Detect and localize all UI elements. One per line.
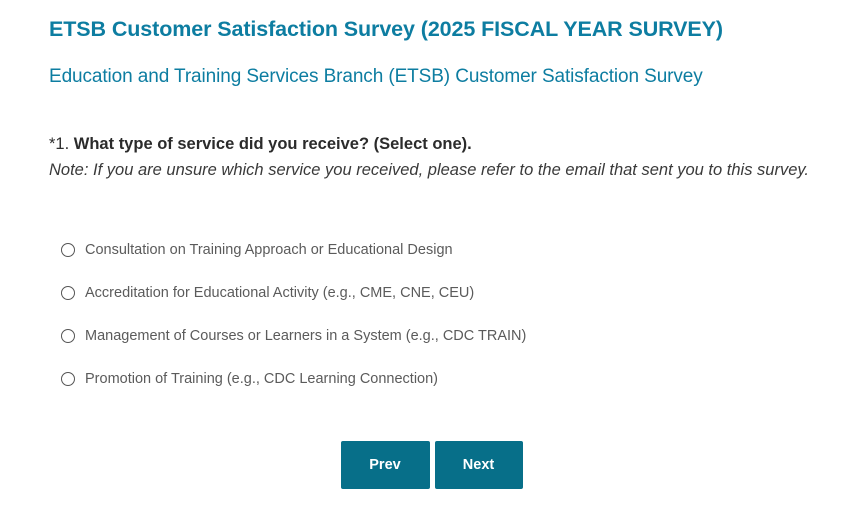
radio-unchecked-icon[interactable] — [61, 329, 75, 343]
prev-button[interactable]: Prev — [341, 441, 430, 489]
next-button[interactable]: Next — [435, 441, 523, 489]
survey-subtitle: Education and Training Services Branch (… — [49, 66, 703, 88]
radio-option-2[interactable]: Accreditation for Educational Activity (… — [61, 279, 761, 307]
page-title: ETSB Customer Satisfaction Survey (2025 … — [49, 17, 723, 42]
radio-option-label: Consultation on Training Approach or Edu… — [85, 241, 453, 259]
radio-option-3[interactable]: Management of Courses or Learners in a S… — [61, 322, 761, 350]
question-note: Note: If you are unsure which service yo… — [49, 157, 839, 183]
radio-option-label: Promotion of Training (e.g., CDC Learnin… — [85, 370, 438, 388]
radio-group: Consultation on Training Approach or Edu… — [61, 236, 761, 393]
radio-unchecked-icon[interactable] — [61, 243, 75, 257]
radio-option-label: Accreditation for Educational Activity (… — [85, 284, 474, 302]
radio-option-label: Management of Courses or Learners in a S… — [85, 327, 526, 345]
radio-unchecked-icon[interactable] — [61, 372, 75, 386]
radio-option-1[interactable]: Consultation on Training Approach or Edu… — [61, 236, 761, 264]
radio-unchecked-icon[interactable] — [61, 286, 75, 300]
survey-page: ETSB Customer Satisfaction Survey (2025 … — [0, 0, 863, 507]
radio-option-4[interactable]: Promotion of Training (e.g., CDC Learnin… — [61, 365, 761, 393]
question-text: What type of service did you receive? (S… — [74, 135, 472, 153]
question-number: 1. — [55, 135, 69, 153]
question-block: *1. What type of service did you receive… — [49, 133, 839, 183]
question-heading: *1. What type of service did you receive… — [49, 133, 839, 155]
navigation-buttons: Prev Next — [0, 441, 863, 489]
